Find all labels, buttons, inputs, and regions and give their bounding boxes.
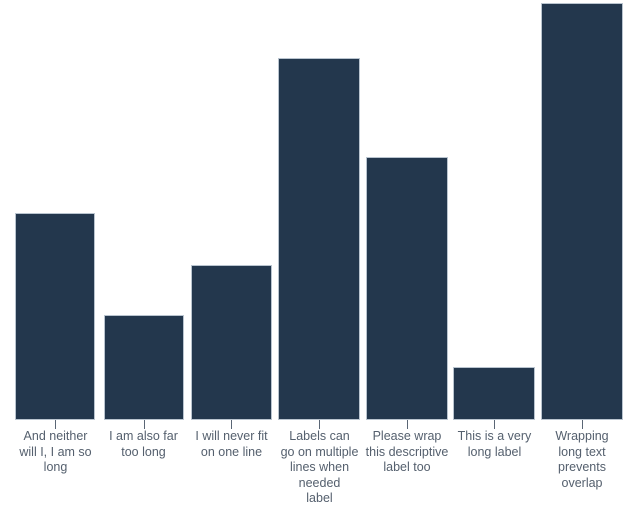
x-axis-tick-labels: And neither will I, I am so longI am als…	[0, 429, 640, 519]
x-axis-tick-mark	[144, 420, 145, 429]
bar[interactable]	[278, 58, 360, 420]
x-axis-tick-mark	[319, 420, 320, 429]
bar[interactable]	[104, 315, 184, 420]
bar[interactable]	[15, 213, 95, 420]
x-axis-tick-mark	[494, 420, 495, 429]
bar-chart: And neither will I, I am so longI am als…	[0, 0, 640, 519]
x-axis-tick-label: Labels can go on multiple lines when nee…	[272, 429, 367, 507]
x-axis-tick-mark	[582, 420, 583, 429]
bar[interactable]	[453, 367, 535, 420]
x-axis-tick-label: I am also far too long	[96, 429, 191, 460]
bar[interactable]	[541, 3, 623, 420]
x-axis-tick-label: I will never fit on one line	[184, 429, 279, 460]
x-axis-tick-label: This is a very long label	[447, 429, 542, 460]
x-axis-tick-mark	[231, 420, 232, 429]
x-axis-tick-label: Please wrap this descriptive label too	[359, 429, 455, 476]
bar[interactable]	[191, 265, 272, 420]
x-axis-tick-label: Wrapping long text prevents overlap	[540, 429, 624, 491]
plot-area	[0, 0, 640, 420]
bar[interactable]	[366, 157, 448, 420]
x-axis-tick-mark	[407, 420, 408, 429]
x-axis-tick-mark	[55, 420, 56, 429]
x-axis-tick-label: And neither will I, I am so long	[8, 429, 103, 476]
